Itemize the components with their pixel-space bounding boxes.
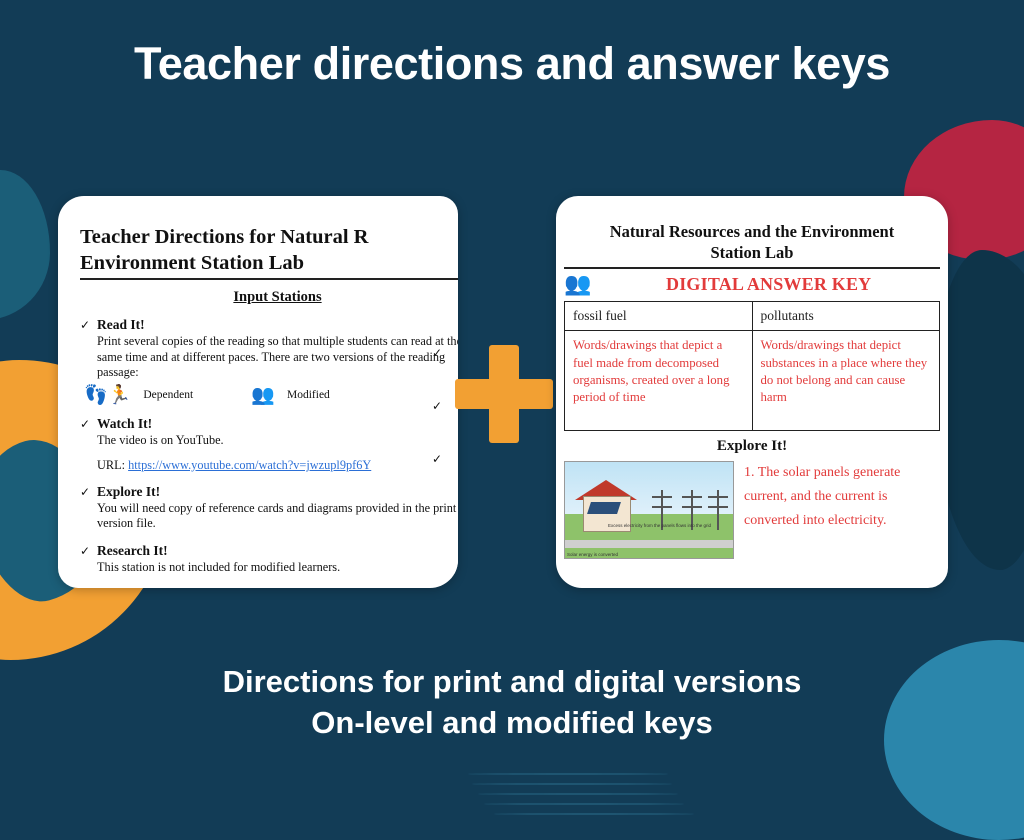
left-doc-item-heading: Watch It! — [97, 416, 458, 432]
subtitle-line1: Directions for print and digital version… — [223, 664, 802, 699]
left-doc-title: Teacher Directions for Natural R Environ… — [80, 224, 458, 276]
people-icon: 👣🏃 — [84, 386, 131, 405]
left-doc-title-line2: Environment Station Lab — [80, 252, 304, 274]
teacher-directions-page: Teacher Directions for Natural R Environ… — [80, 224, 458, 574]
left-doc-item-heading: Research It! — [97, 543, 458, 559]
check-icon: ✓ — [80, 318, 90, 333]
table-cell-pollutants: pollutants Words/drawings that depict su… — [752, 302, 940, 430]
people-icon: 👥 — [564, 273, 591, 295]
table-cell-fossil-fuel: fossil fuel Words/drawings that depict a… — [565, 302, 752, 430]
answer-key-header-row: 👥 DIGITAL ANSWER KEY — [564, 273, 940, 295]
left-doc-divider — [80, 278, 458, 280]
teacher-directions-card: Teacher Directions for Natural R Environ… — [58, 196, 458, 588]
check-icon: ✓ — [80, 417, 90, 432]
page-subtitle: Directions for print and digital version… — [0, 661, 1024, 743]
diagram-caption: Excess electricity from the panels flows… — [608, 523, 711, 528]
left-doc-item-text: You will need copy of reference cards an… — [97, 501, 458, 532]
version-label-dependent: Dependent — [143, 389, 239, 401]
check-icon: ✓ — [80, 544, 90, 559]
right-doc-divider — [564, 267, 940, 269]
left-doc-section-heading: Input Stations — [80, 289, 458, 306]
right-doc-title: Natural Resources and the Environment St… — [564, 222, 940, 263]
plus-icon — [455, 345, 553, 443]
explore-it-answer: 1. The solar panels generate current, an… — [744, 461, 940, 559]
decorative-blob-teal-left — [0, 170, 50, 320]
diagram-caption-secondary: Solar energy is converted — [567, 552, 618, 557]
answer-key-table: fossil fuel Words/drawings that depict a… — [564, 301, 940, 431]
answer-key-label: DIGITAL ANSWER KEY — [597, 274, 940, 295]
left-doc-version-row: 👣🏃 Dependent 👥 Modified — [80, 386, 458, 405]
version-label-modified: Modified — [287, 389, 383, 401]
explore-it-heading: Explore It! — [564, 438, 940, 455]
digital-answer-key-page: Natural Resources and the Environment St… — [564, 222, 940, 574]
left-doc-item-watch-it: ✓ Watch It! The video is on YouTube. — [80, 416, 458, 448]
left-doc-item-text: This station is not included for modifie… — [97, 560, 458, 575]
check-icon: ✓ — [432, 452, 458, 467]
url-label: URL: — [97, 458, 125, 472]
left-doc-url-row: URL: https://www.youtube.com/watch?v=jwz… — [80, 458, 458, 473]
left-doc-item-heading: Explore It! — [97, 484, 458, 500]
left-doc-title-line1: Teacher Directions for Natural R — [80, 226, 368, 248]
check-icon: ✓ — [80, 485, 90, 500]
left-doc-tail-text: may want to have the simulation pre-load… — [80, 587, 458, 588]
digital-answer-key-card: Natural Resources and the Environment St… — [556, 196, 948, 588]
term-label: fossil fuel — [565, 302, 752, 331]
term-label: pollutants — [753, 302, 940, 331]
left-doc-item-read-it: ✓ Read It! Print several copies of the r… — [80, 317, 458, 380]
people-icon: 👥 — [251, 386, 275, 405]
left-doc-item-heading: Read It! — [97, 317, 458, 333]
youtube-url-link[interactable]: https://www.youtube.com/watch?v=jwzupl9p… — [128, 458, 371, 472]
right-doc-title-line1: Natural Resources and the Environment — [610, 222, 894, 241]
right-doc-title-line2: Station Lab — [711, 243, 794, 262]
page-title: Teacher directions and answer keys — [0, 38, 1024, 90]
answer-text: Words/drawings that depict a fuel made f… — [573, 337, 744, 406]
left-doc-item-explore-it: ✓ Explore It! You will need copy of refe… — [80, 484, 458, 532]
explore-it-content: Excess electricity from the panels flows… — [564, 461, 940, 559]
solar-house-power-lines-diagram: Excess electricity from the panels flows… — [564, 461, 734, 559]
answer-text: Words/drawings that depict substances in… — [761, 337, 932, 406]
left-doc-item-text: Print several copies of the reading so t… — [97, 334, 458, 380]
left-doc-item-text: The video is on YouTube. — [97, 433, 458, 448]
left-doc-item-research-it: ✓ Research It! This station is not inclu… — [80, 543, 458, 575]
subtitle-line2: On-level and modified keys — [311, 705, 712, 740]
